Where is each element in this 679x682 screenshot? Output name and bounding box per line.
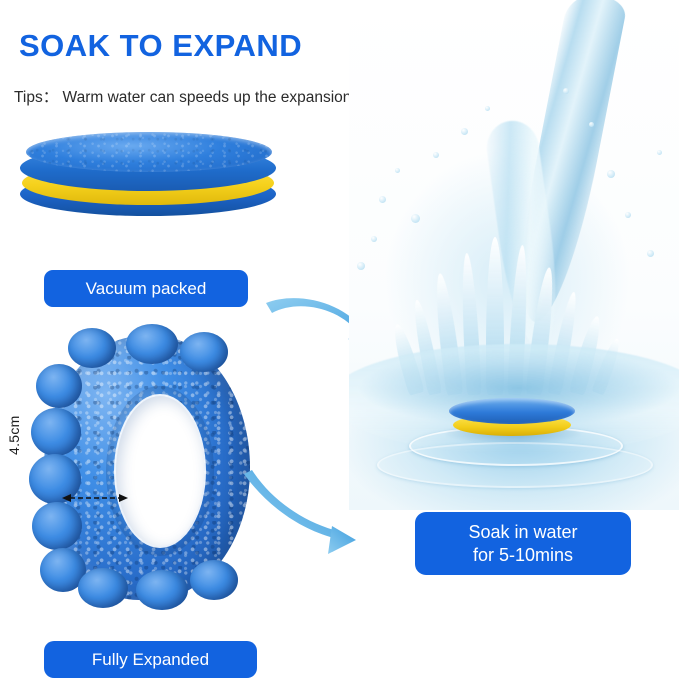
label-fully-expanded: Fully Expanded xyxy=(44,641,257,678)
water-droplet xyxy=(461,128,468,135)
water-splash-photo xyxy=(349,0,679,510)
label-vacuum-packed: Vacuum packed xyxy=(44,270,248,307)
floating-sponge-blue-layer xyxy=(449,398,575,424)
sponge-edge-bump xyxy=(36,364,82,408)
sponge-edge-bump xyxy=(32,502,82,550)
label-soak-line2: for 5-10mins xyxy=(473,544,573,567)
water-droplet xyxy=(607,170,615,178)
water-droplet xyxy=(657,150,662,155)
water-droplet xyxy=(625,212,631,218)
sponge-edge-bump xyxy=(190,560,238,600)
page-title: SOAK TO EXPAND xyxy=(19,28,302,64)
label-soak-line1: Soak in water xyxy=(468,521,577,544)
double-headed-arrow-icon xyxy=(62,492,128,504)
water-droplet xyxy=(395,168,400,173)
sponge-center-hole xyxy=(116,396,204,546)
water-droplet xyxy=(647,250,654,257)
water-droplet xyxy=(485,106,490,111)
sponge-edge-bump xyxy=(126,324,178,364)
fully-expanded-sponge xyxy=(44,336,264,608)
sponge-disc-blue-top xyxy=(26,132,272,172)
infographic-canvas: SOAK TO EXPAND Tips： Warm water can spee… xyxy=(0,0,679,682)
label-soak-in-water: Soak in water for 5-10mins xyxy=(415,512,631,575)
water-droplet xyxy=(589,122,594,127)
water-droplet xyxy=(433,152,439,158)
water-droplet xyxy=(379,196,386,203)
water-droplet xyxy=(371,236,377,242)
sponge-edge-bump xyxy=(31,408,81,456)
sponge-edge-bump xyxy=(68,328,116,368)
water-droplet xyxy=(357,262,365,270)
water-droplet xyxy=(411,214,420,223)
curved-arrow-right-up-icon xyxy=(238,468,358,554)
dimension-label: 4.5cm xyxy=(6,415,22,455)
water-droplet xyxy=(563,88,569,94)
vacuum-packed-sponge-stack xyxy=(16,131,278,229)
sponge-edge-bump xyxy=(180,332,228,372)
sponge-edge-bump xyxy=(78,568,128,608)
water-ripple xyxy=(377,442,653,488)
foam-texture xyxy=(26,132,272,172)
sponge-edge-bump xyxy=(136,570,188,610)
